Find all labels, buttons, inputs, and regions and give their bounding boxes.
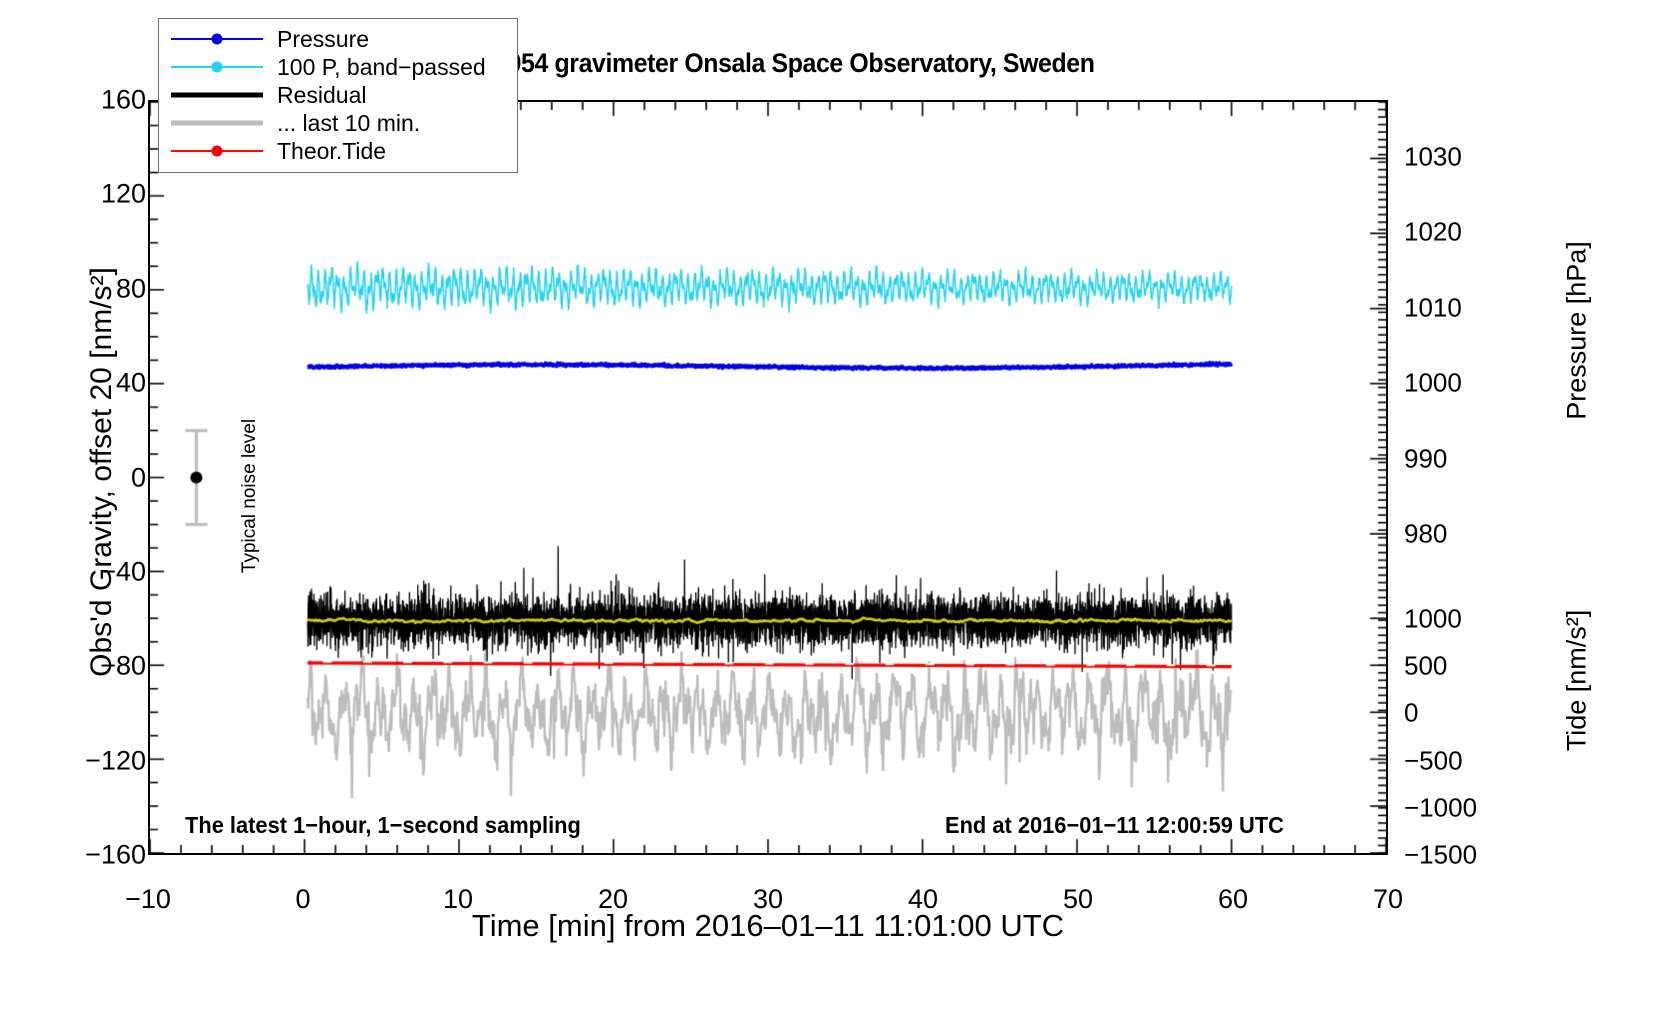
legend-item-label: Pressure	[277, 26, 369, 53]
legend-item-label: ... last 10 min.	[277, 110, 420, 137]
y-tick-label: −80	[100, 651, 146, 682]
legend-item-label: Theor.Tide	[277, 138, 386, 165]
tide-tick-label: −500	[1404, 745, 1463, 776]
y-tick-label: 120	[101, 179, 146, 210]
legend-swatch-icon	[171, 28, 263, 50]
y-tick-label: −160	[85, 840, 146, 871]
y-tick-label: 0	[131, 462, 146, 493]
tide-tick-label: 0	[1404, 698, 1418, 729]
legend-item: Pressure	[159, 25, 517, 53]
x-tick-label: 40	[908, 884, 938, 915]
x-tick-label: 0	[295, 884, 310, 915]
x-tick-label: 60	[1218, 884, 1248, 915]
chart-legend: Pressure100 P, band−passedResidual... la…	[158, 18, 518, 173]
pressure-tick-label: 990	[1404, 443, 1447, 474]
noise-level-label: Typical noise level	[239, 396, 261, 596]
legend-item-label: 100 P, band−passed	[277, 54, 486, 81]
pressure-tick-label: 1020	[1404, 217, 1462, 248]
y-tick-label: 40	[116, 368, 146, 399]
legend-swatch-icon	[171, 140, 263, 162]
tide-tick-label: −1000	[1404, 792, 1477, 823]
x-tick-label: 50	[1063, 884, 1093, 915]
y-axis-title-tide: Tide [nm/s²]	[1562, 451, 1593, 911]
legend-item: ... last 10 min.	[159, 109, 517, 137]
legend-swatch-icon	[171, 56, 263, 78]
y-tick-label: −40	[100, 556, 146, 587]
sampling-note: The latest 1−hour, 1−second sampling	[185, 812, 581, 839]
tide-tick-label: 1000	[1404, 604, 1462, 635]
legend-item: Residual	[159, 81, 517, 109]
end-time-note: End at 2016−01−11 12:00:59 UTC	[945, 812, 1284, 839]
legend-item: Theor.Tide	[159, 137, 517, 165]
y-tick-label: 160	[101, 85, 146, 116]
pressure-tick-label: 1030	[1404, 141, 1462, 172]
pressure-tick-label: 1000	[1404, 368, 1462, 399]
legend-swatch-icon	[171, 112, 263, 134]
x-tick-label: −10	[125, 884, 171, 915]
plot-canvas	[150, 102, 1386, 853]
x-tick-label: 30	[753, 884, 783, 915]
pressure-tick-label: 980	[1404, 519, 1447, 550]
x-tick-label: 10	[443, 884, 473, 915]
y-tick-label: −120	[85, 745, 146, 776]
legend-item: 100 P, band−passed	[159, 53, 517, 81]
y-tick-label: 80	[116, 273, 146, 304]
legend-item-label: Residual	[277, 82, 367, 109]
tide-tick-label: −1500	[1404, 840, 1477, 871]
legend-swatch-icon	[171, 84, 263, 106]
x-tick-label: 70	[1373, 884, 1403, 915]
pressure-tick-label: 1010	[1404, 292, 1462, 323]
plot-area	[148, 100, 1388, 855]
tide-tick-label: 500	[1404, 651, 1447, 682]
x-tick-label: 20	[598, 884, 628, 915]
